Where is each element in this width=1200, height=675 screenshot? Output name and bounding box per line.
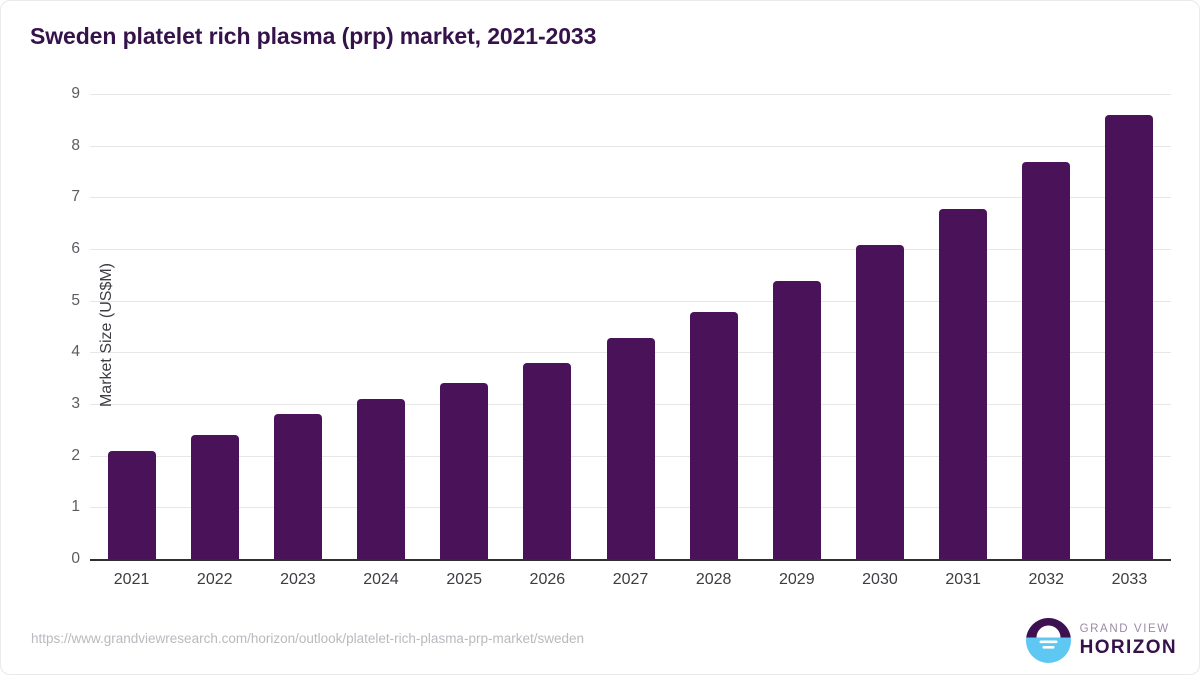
logo-line-2: HORIZON (1080, 638, 1177, 657)
x-axis-tick-label: 2021 (87, 571, 177, 589)
x-axis-tick-label: 2026 (502, 571, 592, 589)
y-axis-title: Market Size (US$M) (98, 205, 116, 465)
logo-text: GRAND VIEW HORIZON (1080, 624, 1177, 658)
bar-2028[interactable] (690, 312, 738, 559)
x-axis-tick-label: 2029 (752, 571, 842, 589)
y-axis-tick-label: 8 (54, 137, 80, 155)
bar-2024[interactable] (357, 399, 405, 559)
y-axis-tick-label: 1 (54, 498, 80, 516)
brand-logo[interactable]: GRAND VIEW HORIZON (1026, 618, 1177, 663)
source-url[interactable]: https://www.grandviewresearch.com/horizo… (31, 631, 584, 646)
y-axis-tick-label: 2 (54, 447, 80, 465)
bar-2021[interactable] (108, 451, 156, 560)
x-axis-tick-label: 2024 (336, 571, 426, 589)
x-axis-tick-label: 2027 (586, 571, 676, 589)
horizon-logo-icon (1026, 618, 1071, 663)
x-axis-tick-label: 2031 (918, 571, 1008, 589)
bar-2022[interactable] (191, 435, 239, 559)
x-axis-tick-label: 2028 (669, 571, 759, 589)
logo-line-1: GRAND VIEW (1080, 624, 1177, 636)
x-axis-tick-label: 2025 (419, 571, 509, 589)
x-axis-tick-label: 2022 (170, 571, 260, 589)
y-axis-tick-label: 3 (54, 395, 80, 413)
bar-2027[interactable] (607, 338, 655, 559)
bar-2025[interactable] (440, 383, 488, 559)
bar-2029[interactable] (773, 281, 821, 559)
y-axis-tick-label: 0 (54, 550, 80, 568)
y-axis-tick-label: 7 (54, 188, 80, 206)
x-axis-tick-label: 2033 (1084, 571, 1174, 589)
y-axis-tick-label: 5 (54, 292, 80, 310)
chart-card: Sweden platelet rich plasma (prp) market… (0, 0, 1200, 675)
page-title: Sweden platelet rich plasma (prp) market… (30, 23, 596, 50)
x-axis-tick-label: 2023 (253, 571, 343, 589)
bar-2026[interactable] (523, 363, 571, 559)
y-axis-tick-label: 9 (54, 85, 80, 103)
x-axis-tick-label: 2030 (835, 571, 925, 589)
bar-2030[interactable] (856, 245, 904, 559)
bars-layer (90, 94, 1171, 559)
bar-2023[interactable] (274, 414, 322, 559)
bar-2033[interactable] (1105, 115, 1153, 559)
y-axis-tick-label: 6 (54, 240, 80, 258)
bar-2031[interactable] (939, 209, 987, 559)
x-axis-tick-label: 2032 (1001, 571, 1091, 589)
bar-2032[interactable] (1022, 162, 1070, 559)
y-axis-tick-label: 4 (54, 343, 80, 361)
x-axis-line (90, 559, 1171, 561)
